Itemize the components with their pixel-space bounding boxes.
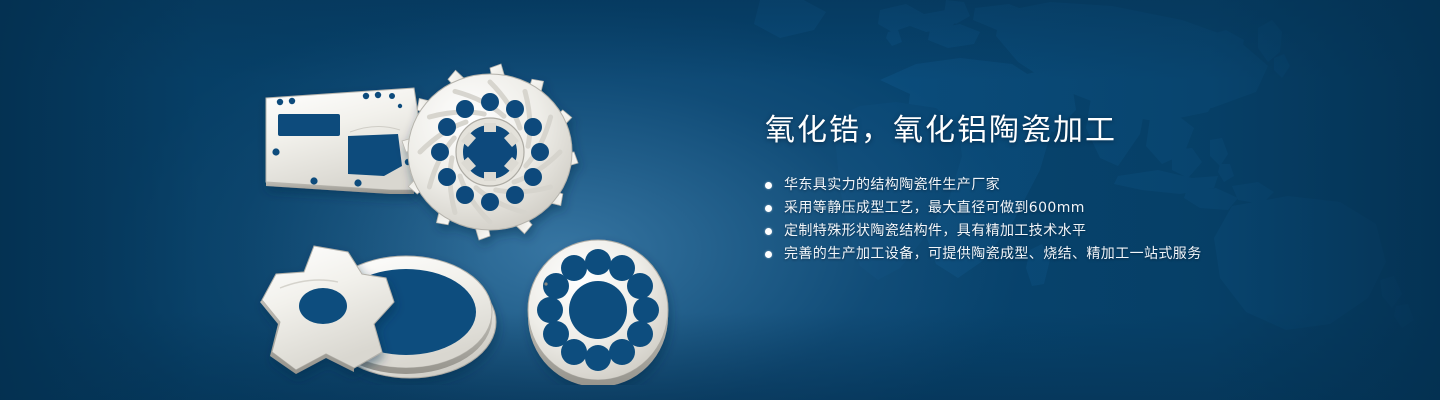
feature-text: 华东具实力的结构陶瓷件生产厂家 [784, 174, 1000, 197]
feature-text: 定制特殊形状陶瓷结构件，具有精加工技术水平 [784, 220, 1086, 243]
feature-text: 采用等静压成型工艺，最大直径可做到600mm [784, 197, 1085, 220]
list-item: 华东具实力的结构陶瓷件生产厂家 [765, 174, 1385, 197]
list-item: 定制特殊形状陶瓷结构件，具有精加工技术水平 [765, 220, 1385, 243]
list-item: 完善的生产加工设备，可提供陶瓷成型、烧结、精加工一站式服务 [765, 243, 1385, 266]
ceramic-impeller-part [402, 64, 578, 240]
bullet-dot-icon [765, 228, 772, 235]
product-photo-group [230, 40, 730, 385]
list-item: 采用等静压成型工艺，最大直径可做到600mm [765, 197, 1385, 220]
banner-copy: 氧化锆，氧化铝陶瓷加工 华东具实力的结构陶瓷件生产厂家 采用等静压成型工艺，最大… [765, 112, 1385, 266]
bullet-dot-icon [765, 251, 772, 258]
bullet-dot-icon [765, 205, 772, 212]
bullet-dot-icon [765, 182, 772, 189]
promo-banner: 氧化锆，氧化铝陶瓷加工 华东具实力的结构陶瓷件生产厂家 采用等静压成型工艺，最大… [0, 0, 1440, 400]
feature-text: 完善的生产加工设备，可提供陶瓷成型、烧结、精加工一站式服务 [784, 243, 1202, 266]
banner-headline: 氧化锆，氧化铝陶瓷加工 [765, 112, 1385, 150]
ceramic-valve-plate [528, 240, 668, 385]
feature-list: 华东具实力的结构陶瓷件生产厂家 采用等静压成型工艺，最大直径可做到600mm 定… [765, 174, 1385, 266]
